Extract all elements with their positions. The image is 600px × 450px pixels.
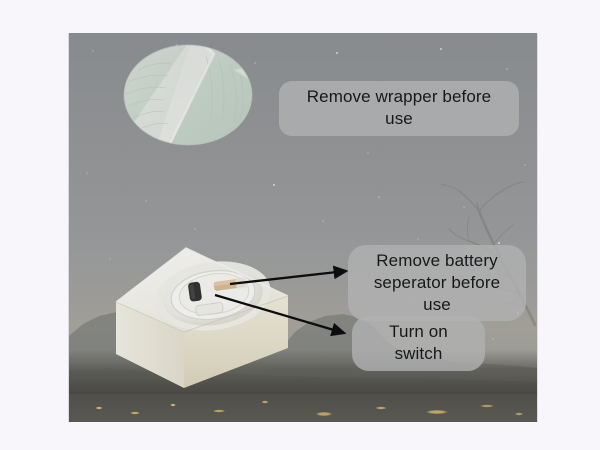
product-instruction-photo: Remove wrapper before use Remove battery…	[69, 33, 537, 422]
screenshot-canvas: Remove wrapper before use Remove battery…	[0, 0, 600, 450]
wrapper-disc-object	[122, 42, 254, 148]
callout-turn-on-switch: Turn on switch	[352, 316, 485, 371]
white-cube-device	[110, 236, 300, 388]
callout-remove-wrapper: Remove wrapper before use	[279, 81, 519, 136]
callout-remove-battery-separator: Remove battery seperator before use	[348, 245, 526, 321]
